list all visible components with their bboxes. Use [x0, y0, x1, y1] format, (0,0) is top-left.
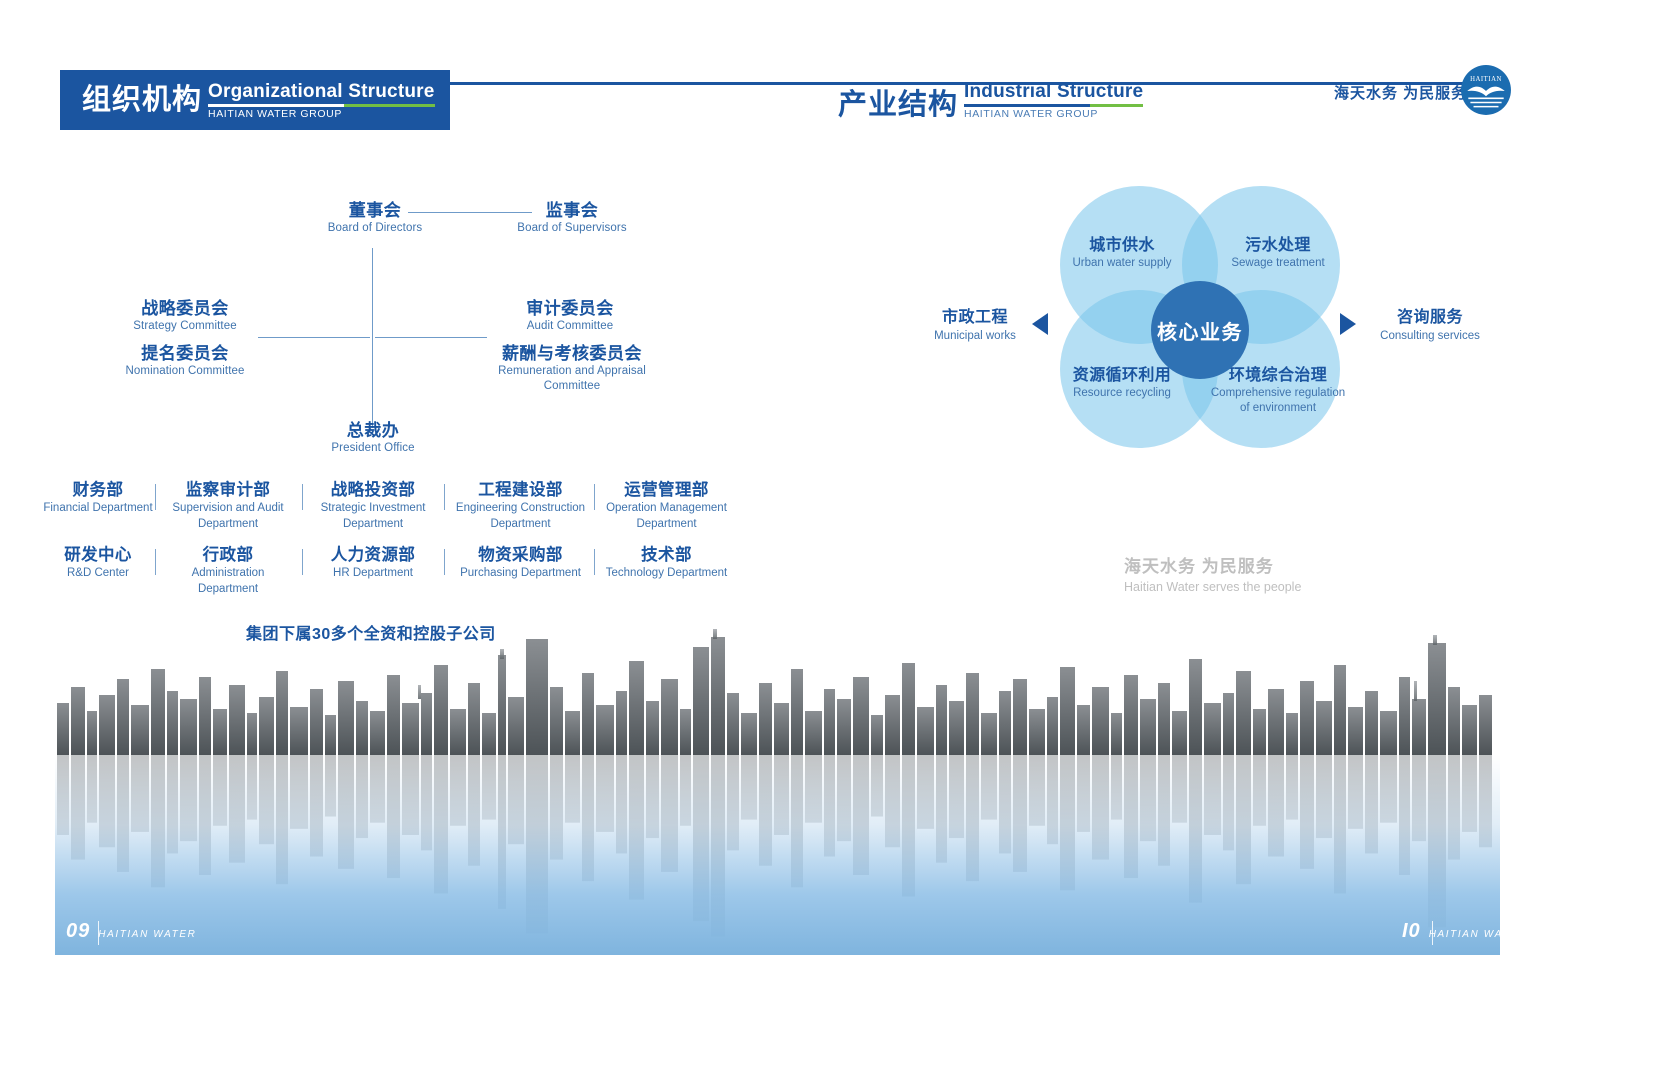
venn-label-0-en: Urban water supply [1052, 256, 1192, 271]
dept-purchasing: 物资采购部 Purchasing Department [453, 545, 588, 582]
svg-text:HAITIAN: HAITIAN [1470, 76, 1502, 83]
arrow-right-icon [1340, 313, 1356, 335]
dept-engineering-construction: 工程建设部 Engineering Construction Departmen… [453, 480, 588, 532]
org-node-remuneration-committee: 薪酬与考核委员会 Remuneration and Appraisal Comm… [472, 343, 672, 394]
water-gradient-overlay [55, 755, 1500, 955]
side-label-right-cn: 咨询服务 [1355, 308, 1505, 329]
footer-page-left: 09 HAITIAN WATER [66, 920, 196, 943]
dept-technology-en: Technology Department [600, 566, 733, 582]
city-skyline-image [55, 625, 1500, 955]
org-node-audit-committee: 审计委员会 Audit Committee [495, 298, 645, 334]
footer-brand-right: HAITIAN WATER [1429, 929, 1527, 940]
dept-row-1: 财务部 Financial Department 监察审计部 Supervisi… [0, 480, 780, 555]
header-center-title-block: 产业结构 Industrial Structure HAITIAN WATER … [838, 80, 1143, 120]
header-slogan: 海天水务 为民服务 [1334, 82, 1467, 103]
dept-rd-center: 研发中心 R&D Center [33, 545, 163, 582]
org-node-board-of-supervisors: 监事会 Board of Supervisors [508, 200, 636, 236]
org-node-remuneration-cn: 薪酬与考核委员会 [472, 343, 672, 364]
side-label-right-en: Consulting services [1355, 329, 1505, 344]
dept-separator [444, 549, 445, 575]
industrial-structure-venn: 城市供水 Urban water supply 污水处理 Sewage trea… [1060, 186, 1340, 448]
dept-strategic-cn: 战略投资部 [308, 480, 438, 501]
venn-label-0-cn: 城市供水 [1052, 236, 1192, 256]
dept-administration: 行政部 Administration Department [163, 545, 293, 597]
dept-row-2: 研发中心 R&D Center 行政部 Administration Depar… [0, 545, 780, 620]
venn-core-business: 核心业务 [1151, 281, 1249, 379]
org-node-nomination-en: Nomination Committee [110, 364, 260, 379]
org-connector-top [408, 212, 532, 213]
watermark-slogan: 海天水务 为民服务 Haitian Water serves the peopl… [1124, 555, 1301, 596]
org-node-audit-cn: 审计委员会 [495, 298, 645, 319]
footer-divider-right [1432, 921, 1433, 945]
header-center-rule [964, 104, 1143, 107]
footer-brand-left: HAITIAN WATER [98, 929, 196, 940]
org-connector-right-committees [375, 337, 487, 338]
org-node-remuneration-en: Remuneration and Appraisal Committee [472, 364, 672, 394]
dept-operation-management: 运营管理部 Operation Management Department [600, 480, 733, 532]
dept-supervision-en: Supervision and Audit Department [163, 501, 293, 532]
dept-purchasing-en: Purchasing Department [453, 566, 588, 582]
dept-administration-cn: 行政部 [163, 545, 293, 566]
industrial-side-label-municipal: 市政工程 Municipal works [900, 308, 1050, 344]
dept-strategic-en: Strategic Investment Department [308, 501, 438, 532]
venn-label-urban-water-supply: 城市供水 Urban water supply [1052, 236, 1192, 271]
side-label-left-cn: 市政工程 [900, 308, 1050, 329]
org-node-supervisors-cn: 监事会 [508, 200, 636, 221]
org-node-board-cn: 董事会 [311, 200, 439, 221]
brochure-spread: 组织机构 Organizational Structure HAITIAN WA… [0, 0, 1678, 1087]
dept-operation-cn: 运营管理部 [600, 480, 733, 501]
venn-label-environment-regulation: 环境综合治理 Comprehensive regulation of envir… [1208, 366, 1348, 416]
dept-hr-cn: 人力资源部 [308, 545, 438, 566]
org-node-president-office: 总裁办 President Office [308, 420, 438, 456]
dept-financial: 财务部 Financial Department [33, 480, 163, 517]
dept-rd-en: R&D Center [33, 566, 163, 582]
org-node-nomination-committee: 提名委员会 Nomination Committee [110, 343, 260, 379]
watermark-cn: 海天水务 为民服务 [1124, 555, 1301, 579]
watermark-en: Haitian Water serves the people [1124, 579, 1301, 597]
org-connector-spine [372, 248, 373, 428]
dept-separator [155, 549, 156, 575]
dept-engineering-cn: 工程建设部 [453, 480, 588, 501]
venn-label-resource-recycling: 资源循环利用 Resource recycling [1052, 366, 1192, 401]
org-chart: 董事会 Board of Directors 监事会 Board of Supe… [0, 0, 780, 620]
dept-separator [155, 484, 156, 510]
footer-divider-left [98, 921, 99, 945]
venn-label-2-en: Resource recycling [1052, 386, 1192, 401]
industrial-side-label-consulting: 咨询服务 Consulting services [1355, 308, 1505, 344]
dept-separator [594, 549, 595, 575]
dept-rd-cn: 研发中心 [33, 545, 163, 566]
dept-technology-cn: 技术部 [600, 545, 733, 566]
dept-financial-en: Financial Department [33, 501, 163, 517]
dept-administration-en: Administration Department [163, 566, 293, 597]
org-node-president-en: President Office [308, 441, 438, 456]
skyline-silhouette [55, 625, 1500, 755]
dept-supervision-cn: 监察审计部 [163, 480, 293, 501]
dept-strategic-investment: 战略投资部 Strategic Investment Department [308, 480, 438, 532]
haitian-logo-icon: HAITIAN [1460, 64, 1512, 116]
org-node-supervisors-en: Board of Supervisors [508, 221, 636, 236]
side-label-left-en: Municipal works [900, 329, 1050, 344]
dept-financial-cn: 财务部 [33, 480, 163, 501]
org-node-strategy-en: Strategy Committee [110, 319, 260, 334]
org-node-audit-en: Audit Committee [495, 319, 645, 334]
dept-operation-en: Operation Management Department [600, 501, 733, 532]
org-connector-left-committees [258, 337, 370, 338]
header-center-en-group: Industrial Structure HAITIAN WATER GROUP [964, 80, 1143, 120]
header-center-subtitle: HAITIAN WATER GROUP [964, 109, 1143, 121]
dept-engineering-en: Engineering Construction Department [453, 501, 588, 532]
dept-separator [302, 484, 303, 510]
org-node-strategy-cn: 战略委员会 [110, 298, 260, 319]
dept-hr: 人力资源部 HR Department [308, 545, 438, 582]
venn-label-1-en: Sewage treatment [1208, 256, 1348, 271]
venn-label-1-cn: 污水处理 [1208, 236, 1348, 256]
dept-supervision-audit: 监察审计部 Supervision and Audit Department [163, 480, 293, 532]
org-node-strategy-committee: 战略委员会 Strategy Committee [110, 298, 260, 334]
org-node-president-cn: 总裁办 [308, 420, 438, 441]
dept-separator [444, 484, 445, 510]
org-node-nomination-cn: 提名委员会 [110, 343, 260, 364]
dept-technology: 技术部 Technology Department [600, 545, 733, 582]
footer-page-right: I0 HAITIAN WATER [1402, 920, 1527, 943]
footer-page-number-right: I0 [1402, 920, 1421, 943]
dept-hr-en: HR Department [308, 566, 438, 582]
org-node-board-en: Board of Directors [311, 221, 439, 236]
footer-page-number-left: 09 [66, 920, 90, 943]
dept-separator [302, 549, 303, 575]
dept-purchasing-cn: 物资采购部 [453, 545, 588, 566]
venn-label-3-en: Comprehensive regulation of environment [1208, 386, 1348, 416]
header-center-title-en: Industrial Structure [964, 82, 1143, 102]
dept-separator [594, 484, 595, 510]
header-center-title-cn: 产业结构 [838, 91, 958, 120]
org-node-board-of-directors: 董事会 Board of Directors [311, 200, 439, 236]
venn-label-sewage-treatment: 污水处理 Sewage treatment [1208, 236, 1348, 271]
